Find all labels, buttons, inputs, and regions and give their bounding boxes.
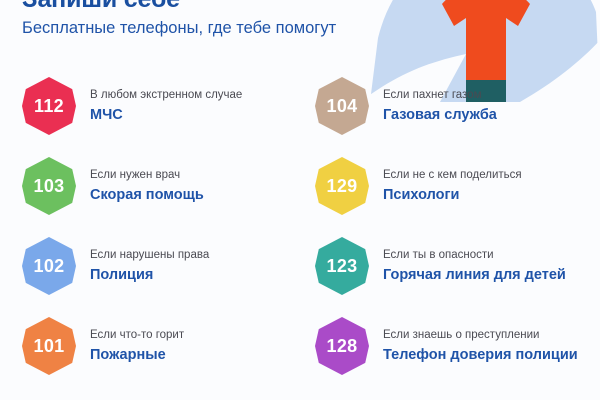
service-caption: Если ты в опасности bbox=[383, 247, 566, 263]
phone-badge-129[interactable]: 129 bbox=[315, 157, 369, 215]
service-name: Психологи bbox=[383, 186, 522, 205]
phone-badge-112[interactable]: 112 bbox=[22, 77, 76, 135]
badge-number: 129 bbox=[327, 177, 358, 195]
phone-badge-101[interactable]: 101 bbox=[22, 317, 76, 375]
service-text: Если пахнет газом Газовая служба bbox=[383, 87, 497, 125]
service-row[interactable]: 123 Если ты в опасности Горячая линия дл… bbox=[315, 226, 600, 306]
service-row[interactable]: 103 Если нужен врач Скорая помощь bbox=[22, 146, 307, 226]
badge-number: 112 bbox=[34, 97, 64, 115]
service-text: Если не с кем поделиться Психологи bbox=[383, 167, 522, 205]
page-subtitle: Бесплатные телефоны, где тебе помогут bbox=[22, 17, 442, 39]
service-caption: Если нужен врач bbox=[90, 167, 204, 183]
services-column-right: 104 Если пахнет газом Газовая служба 129… bbox=[307, 66, 600, 386]
service-name: Полиция bbox=[90, 266, 209, 285]
phone-badge-103[interactable]: 103 bbox=[22, 157, 76, 215]
service-name: Скорая помощь bbox=[90, 186, 204, 205]
services-grid: 112 В любом экстренном случае МЧС 103 Ес… bbox=[0, 66, 600, 386]
service-text: Если что-то горит Пожарные bbox=[90, 327, 184, 365]
service-row[interactable]: 102 Если нарушены права Полиция bbox=[22, 226, 307, 306]
service-name: МЧС bbox=[90, 106, 242, 125]
service-row[interactable]: 129 Если не с кем поделиться Психологи bbox=[315, 146, 600, 226]
service-text: Если нарушены права Полиция bbox=[90, 247, 209, 285]
badge-number: 101 bbox=[34, 337, 65, 355]
badge-number: 123 bbox=[327, 257, 358, 275]
phone-badge-102[interactable]: 102 bbox=[22, 237, 76, 295]
service-caption: Если пахнет газом bbox=[383, 87, 497, 103]
service-name: Газовая служба bbox=[383, 106, 497, 125]
service-text: В любом экстренном случае МЧС bbox=[90, 87, 242, 125]
service-row[interactable]: 101 Если что-то горит Пожарные bbox=[22, 306, 307, 386]
badge-number: 102 bbox=[34, 257, 65, 275]
phone-badge-128[interactable]: 128 bbox=[315, 317, 369, 375]
service-caption: В любом экстренном случае bbox=[90, 87, 242, 103]
infographic-page: Запиши себе Бесплатные телефоны, где теб… bbox=[0, 0, 600, 400]
service-text: Если нужен врач Скорая помощь bbox=[90, 167, 204, 205]
services-column-left: 112 В любом экстренном случае МЧС 103 Ес… bbox=[0, 66, 307, 386]
page-title: Запиши себе bbox=[22, 0, 442, 14]
service-name: Горячая линия для детей bbox=[383, 266, 566, 285]
service-caption: Если что-то горит bbox=[90, 327, 184, 343]
service-name: Пожарные bbox=[90, 346, 184, 365]
badge-number: 128 bbox=[327, 337, 358, 355]
badge-number: 104 bbox=[327, 97, 358, 115]
service-row[interactable]: 128 Если знаешь о преступлении Телефон д… bbox=[315, 306, 600, 386]
service-caption: Если нарушены права bbox=[90, 247, 209, 263]
phone-badge-104[interactable]: 104 bbox=[315, 77, 369, 135]
header-block: Запиши себе Бесплатные телефоны, где теб… bbox=[22, 0, 442, 39]
service-text: Если ты в опасности Горячая линия для де… bbox=[383, 247, 566, 285]
service-name: Телефон доверия полиции bbox=[383, 346, 578, 365]
badge-number: 103 bbox=[34, 177, 65, 195]
service-row[interactable]: 112 В любом экстренном случае МЧС bbox=[22, 66, 307, 146]
phone-badge-123[interactable]: 123 bbox=[315, 237, 369, 295]
service-caption: Если знаешь о преступлении bbox=[383, 327, 578, 343]
service-row[interactable]: 104 Если пахнет газом Газовая служба bbox=[315, 66, 600, 146]
service-text: Если знаешь о преступлении Телефон довер… bbox=[383, 327, 578, 365]
service-caption: Если не с кем поделиться bbox=[383, 167, 522, 183]
